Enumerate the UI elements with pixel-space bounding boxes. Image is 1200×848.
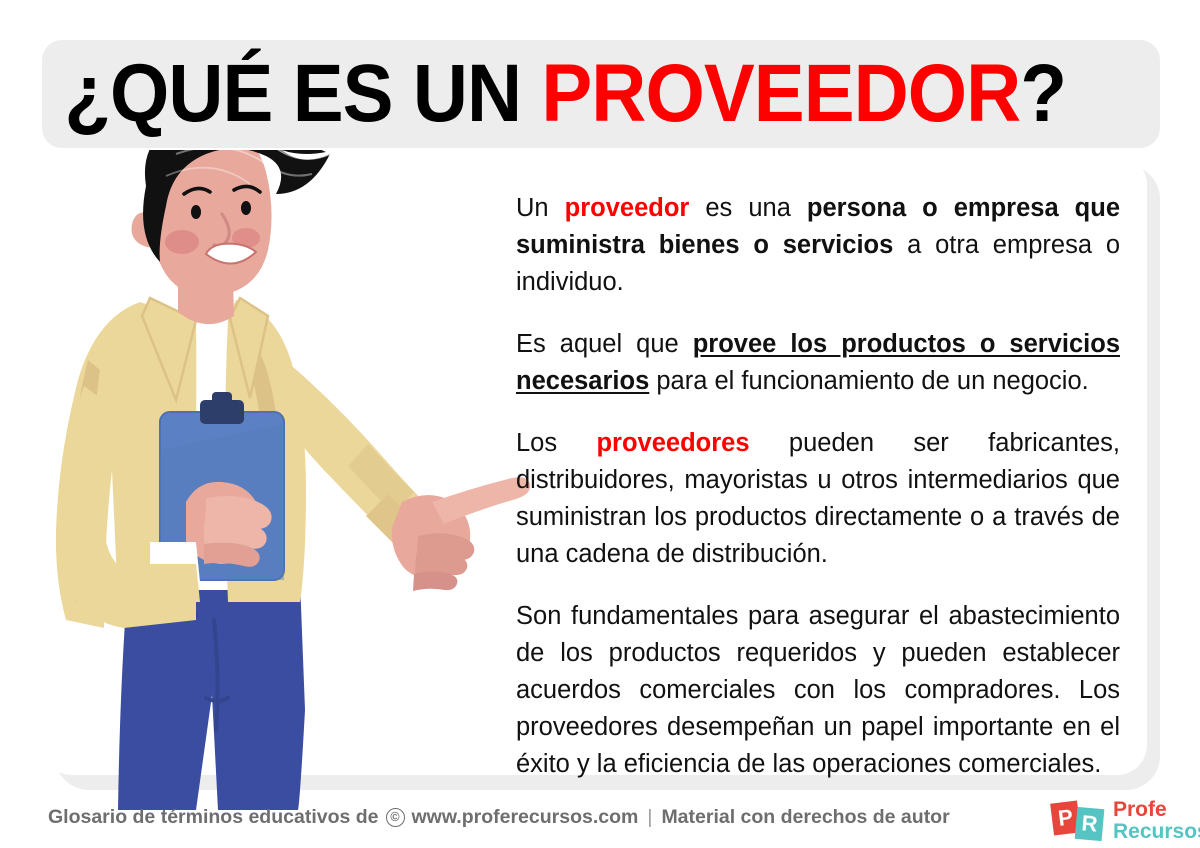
logo-word-recursos: Recursos bbox=[1113, 821, 1200, 843]
title-highlight: PROVEEDOR bbox=[541, 48, 1020, 139]
paragraph-3: Los proveedores pueden ser fabricantes, … bbox=[516, 425, 1120, 573]
logo-badges: P R bbox=[1052, 800, 1106, 842]
page-title: ¿QUÉ ES UN PROVEEDOR? bbox=[42, 53, 1066, 135]
paragraph-1: Un proveedor es una persona o empresa qu… bbox=[516, 190, 1120, 301]
profe-recursos-logo[interactable]: P R Profe Recursos bbox=[1052, 799, 1200, 842]
logo-word-profe: Profe bbox=[1113, 799, 1200, 821]
paragraph-4: Son fundamentales para asegurar el abast… bbox=[516, 598, 1120, 783]
p2-part1: Es aquel que bbox=[516, 330, 693, 358]
title-prefix: ¿QUÉ ES UN bbox=[64, 48, 541, 139]
p3-part1: Los bbox=[516, 429, 596, 457]
p2-part2: para el funcionamiento de un negocio. bbox=[649, 367, 1088, 395]
footer-separator: | bbox=[645, 806, 654, 829]
logo-badge-r: R bbox=[1075, 807, 1105, 841]
footer-text-before: Glosario de términos educativos de bbox=[48, 806, 379, 829]
footer-website[interactable]: www.proferecursos.com bbox=[412, 806, 639, 829]
footer-credit: Glosario de términos educativos de © www… bbox=[48, 806, 950, 829]
p1-part2: es una bbox=[689, 194, 807, 222]
p1-part1: Un bbox=[516, 194, 565, 222]
p1-red: proveedor bbox=[565, 194, 690, 222]
footer-text-after: Material con derechos de autor bbox=[661, 806, 949, 829]
body-copy: Un proveedor es una persona o empresa qu… bbox=[516, 190, 1120, 783]
copyright-icon: © bbox=[386, 808, 405, 827]
paragraph-2: Es aquel que provee los productos o serv… bbox=[516, 326, 1120, 400]
infographic-page: ¿QUÉ ES UN PROVEEDOR? bbox=[0, 0, 1200, 848]
title-suffix: ? bbox=[1020, 48, 1066, 139]
title-bar: ¿QUÉ ES UN PROVEEDOR? bbox=[42, 40, 1160, 148]
logo-wordmark: Profe Recursos bbox=[1113, 799, 1200, 842]
p3-red: proveedores bbox=[596, 429, 749, 457]
